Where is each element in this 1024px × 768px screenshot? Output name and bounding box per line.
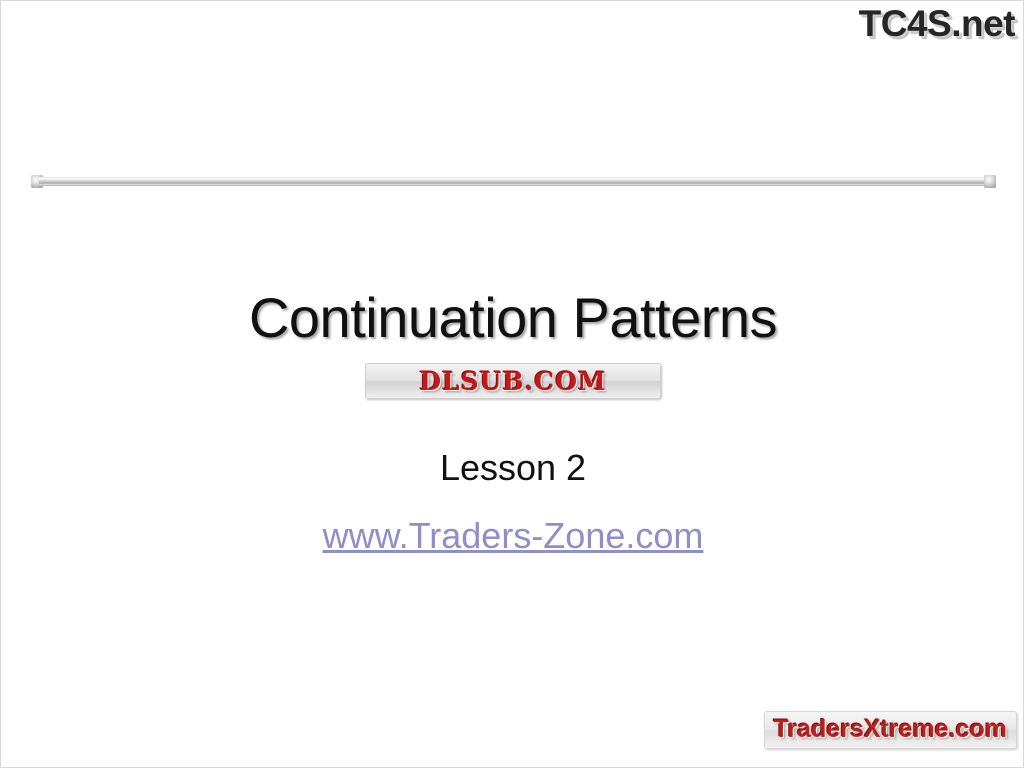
- slide-title: Continuation Patterns: [1, 287, 1024, 349]
- divider-bar: [39, 177, 988, 186]
- dlsub-watermark-label: DLSUB.COM: [419, 367, 606, 396]
- tradersxtreme-watermark: TradersXtreme.com: [764, 711, 1017, 749]
- site-link[interactable]: www.Traders-Zone.com: [323, 515, 704, 556]
- tradersxtreme-watermark-label: TradersXtreme.com: [774, 715, 1007, 743]
- tc4s-watermark: TC4S.net: [859, 3, 1015, 45]
- slide-subtitle: Lesson 2: [1, 446, 1024, 490]
- site-link-row: www.Traders-Zone.com: [1, 514, 1024, 558]
- divider-cap-right-icon: [984, 175, 996, 188]
- dlsub-watermark: DLSUB.COM: [365, 363, 661, 399]
- slide-canvas: TC4S.net Continuation Patterns DLSUB.COM…: [0, 0, 1024, 768]
- divider: [31, 173, 996, 191]
